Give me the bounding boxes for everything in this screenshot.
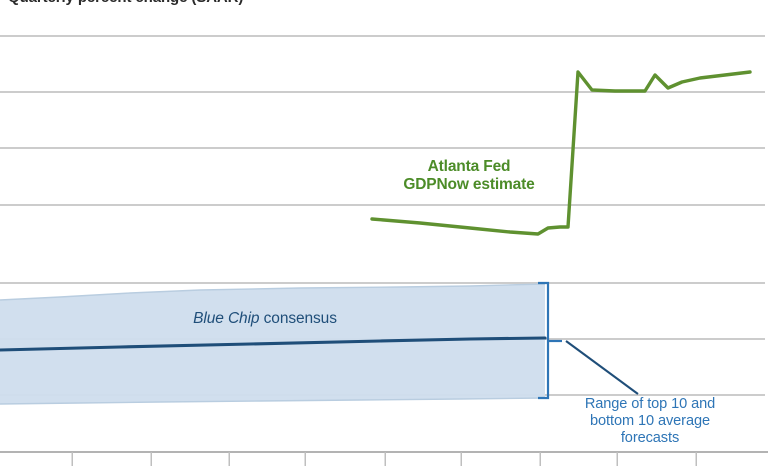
range-callout-leader-line bbox=[566, 341, 638, 394]
x-axis-ticks bbox=[72, 452, 696, 466]
gdpnow-estimate-line bbox=[372, 72, 750, 234]
range-callout-label-line1: Range of top 10 and bbox=[552, 396, 748, 413]
range-callout-label-line2: bottom 10 average bbox=[552, 413, 748, 430]
gdpnow-series-label: Atlanta Fed GDPNow estimate bbox=[383, 158, 555, 195]
gdpnow-series-label-line2: GDPNow estimate bbox=[383, 176, 555, 194]
gdpnow-series-label-line1: Atlanta Fed bbox=[383, 158, 555, 176]
bluechip-series-label-emphasis: Blue Chip bbox=[193, 310, 259, 327]
bluechip-series-label-plain: consensus bbox=[259, 310, 336, 327]
range-callout-label-line3: forecasts bbox=[552, 430, 748, 447]
bluechip-series-label: Blue Chip consensus bbox=[170, 310, 360, 328]
chart-container: Quarterly percent change (SAAR) bbox=[0, 0, 780, 470]
range-callout-label: Range of top 10 and bottom 10 average fo… bbox=[552, 396, 748, 447]
